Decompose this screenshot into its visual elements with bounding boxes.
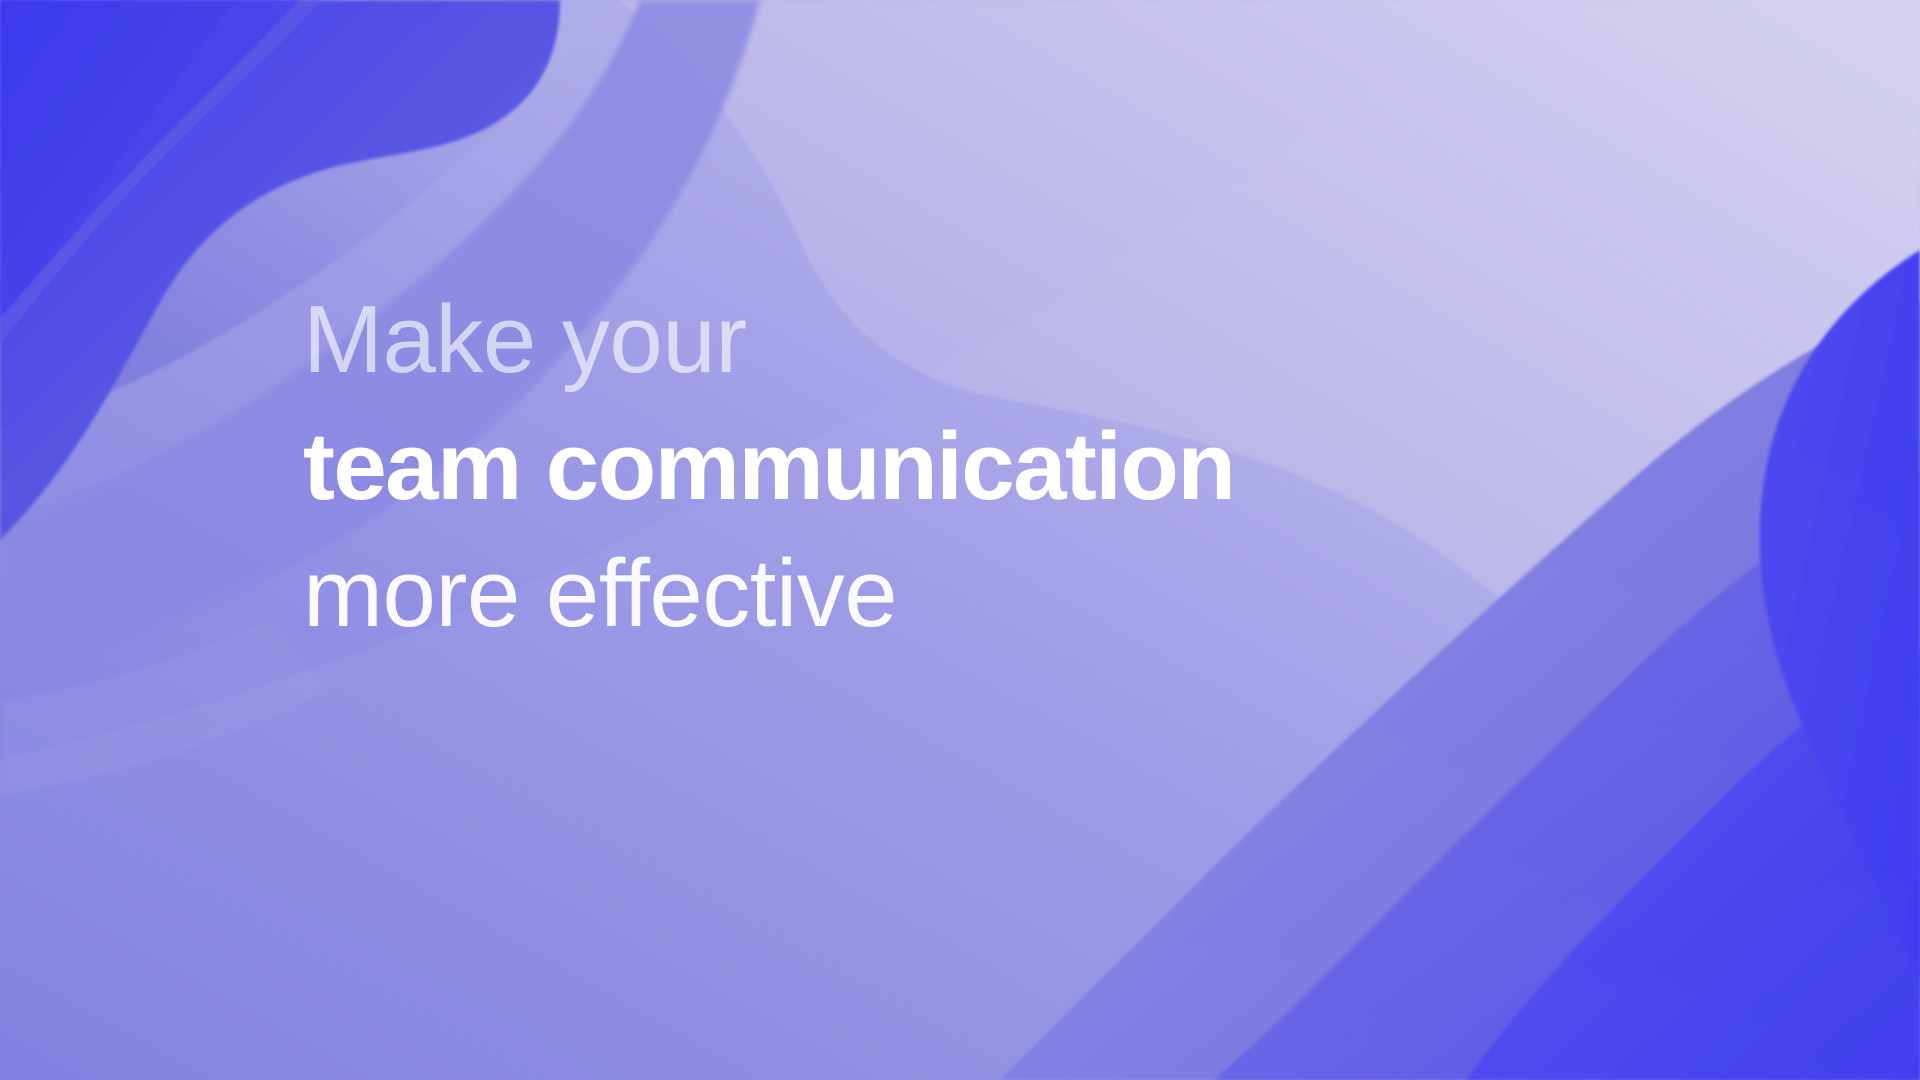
- hero-banner: Make your team communication more effect…: [0, 0, 1920, 1080]
- headline-line-top: Make your: [303, 276, 1403, 404]
- headline-block: Make your team communication more effect…: [303, 276, 1403, 658]
- headline-line-emphasis: team communication: [303, 404, 1403, 530]
- headline-line-bottom: more effective: [303, 530, 1403, 658]
